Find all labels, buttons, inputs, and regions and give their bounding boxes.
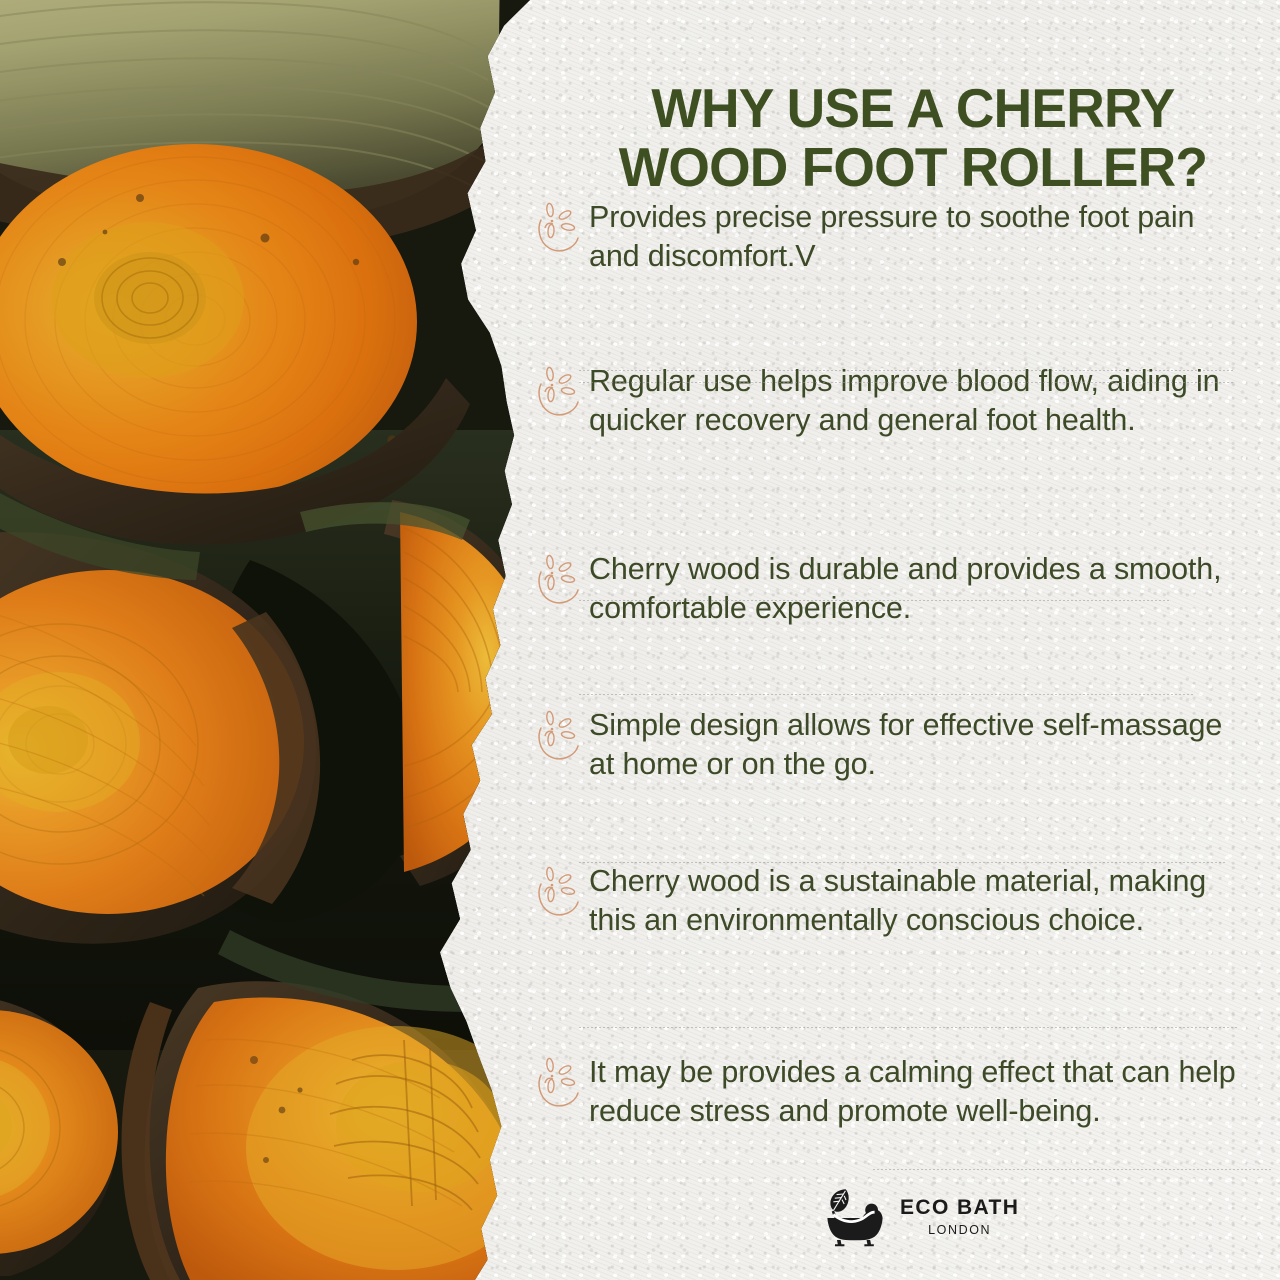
list-item-label: Cherry wood is a sustainable material, m… (589, 860, 1237, 940)
list-item: Provides precise pressure to soothe foot… (533, 196, 1243, 324)
brand-name: ECO BATH (900, 1197, 1019, 1218)
list-item-label: It may be provides a calming effect that… (589, 1051, 1237, 1131)
divider (579, 382, 1235, 383)
log-stack-photo (0, 0, 530, 1280)
infographic-canvas: WHY USE A CHERRY WOOD FOOT ROLLER? (0, 0, 1280, 1280)
divider (579, 694, 1193, 695)
list-item: Simple design allows for effective self-… (533, 704, 1243, 832)
benefits-list: Provides precise pressure to soothe foot… (533, 196, 1243, 1221)
page-title: WHY USE A CHERRY WOOD FOOT ROLLER? (574, 79, 1253, 197)
brand-wordmark: ECO BATH LONDON (900, 1197, 1019, 1237)
list-item-label: Provides precise pressure to soothe foot… (589, 196, 1237, 276)
sprout-flourish-icon (535, 202, 581, 256)
sprout-flourish-icon (535, 1057, 581, 1111)
list-item-label: Regular use helps improve blood flow, ai… (589, 360, 1237, 440)
sprout-flourish-icon (535, 554, 581, 608)
bathtub-leaf-icon (824, 1186, 886, 1248)
list-item: Cherry wood is durable and provides a sm… (533, 548, 1243, 676)
list-item: Regular use helps improve blood flow, ai… (533, 360, 1243, 527)
brand-location: LONDON (928, 1224, 991, 1237)
brand-logo: ECO BATH LONDON (824, 1186, 1019, 1248)
sprout-flourish-icon (535, 866, 581, 920)
divider (579, 1027, 1239, 1028)
sprout-flourish-icon (535, 366, 581, 420)
list-item: Cherry wood is a sustainable material, m… (533, 860, 1243, 1027)
divider (873, 1169, 1271, 1170)
divider (579, 862, 1227, 863)
list-item-label: Cherry wood is durable and provides a sm… (589, 548, 1237, 628)
divider (579, 600, 1171, 601)
sprout-flourish-icon (535, 710, 581, 764)
list-item-label: Simple design allows for effective self-… (589, 704, 1237, 784)
